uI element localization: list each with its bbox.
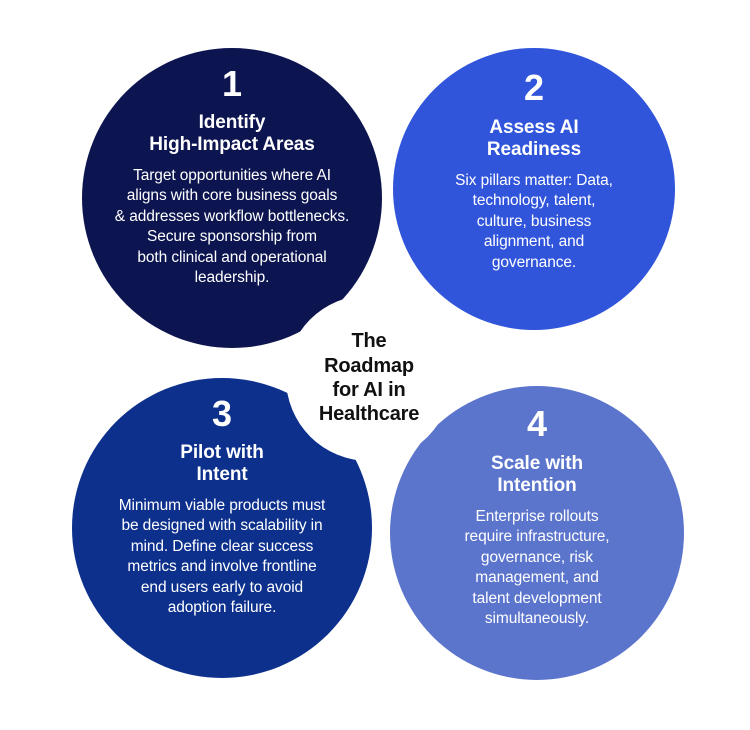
- step-title-4: Scale with Intention: [491, 453, 583, 498]
- step-number-3: 3: [212, 396, 232, 432]
- step-circle-2[interactable]: 2 Assess AI Readiness Six pillars matter…: [393, 48, 675, 330]
- infographic-canvas: 1 Identify High-Impact Areas Target oppo…: [0, 0, 750, 730]
- step-title-2: Assess AI Readiness: [487, 117, 581, 162]
- step-number-2: 2: [524, 70, 544, 106]
- step-number-1: 1: [222, 66, 242, 102]
- step-title-1: Identify High-Impact Areas: [149, 112, 314, 157]
- step-body-1: Target opportunities where AI aligns wit…: [115, 166, 349, 289]
- step-body-4: Enterprise rollouts require infrastructu…: [464, 507, 609, 630]
- step-body-3: Minimum viable products must be designed…: [119, 496, 326, 619]
- step-title-3: Pilot with Intent: [180, 442, 263, 487]
- step-body-2: Six pillars matter: Data, technology, ta…: [455, 171, 613, 273]
- center-hub-label: The Roadmap for AI in Healthcare: [319, 329, 419, 427]
- step-circle-4[interactable]: 4 Scale with Intention Enterprise rollou…: [390, 386, 684, 680]
- step-number-4: 4: [527, 406, 547, 442]
- center-hub: The Roadmap for AI in Healthcare: [286, 295, 452, 461]
